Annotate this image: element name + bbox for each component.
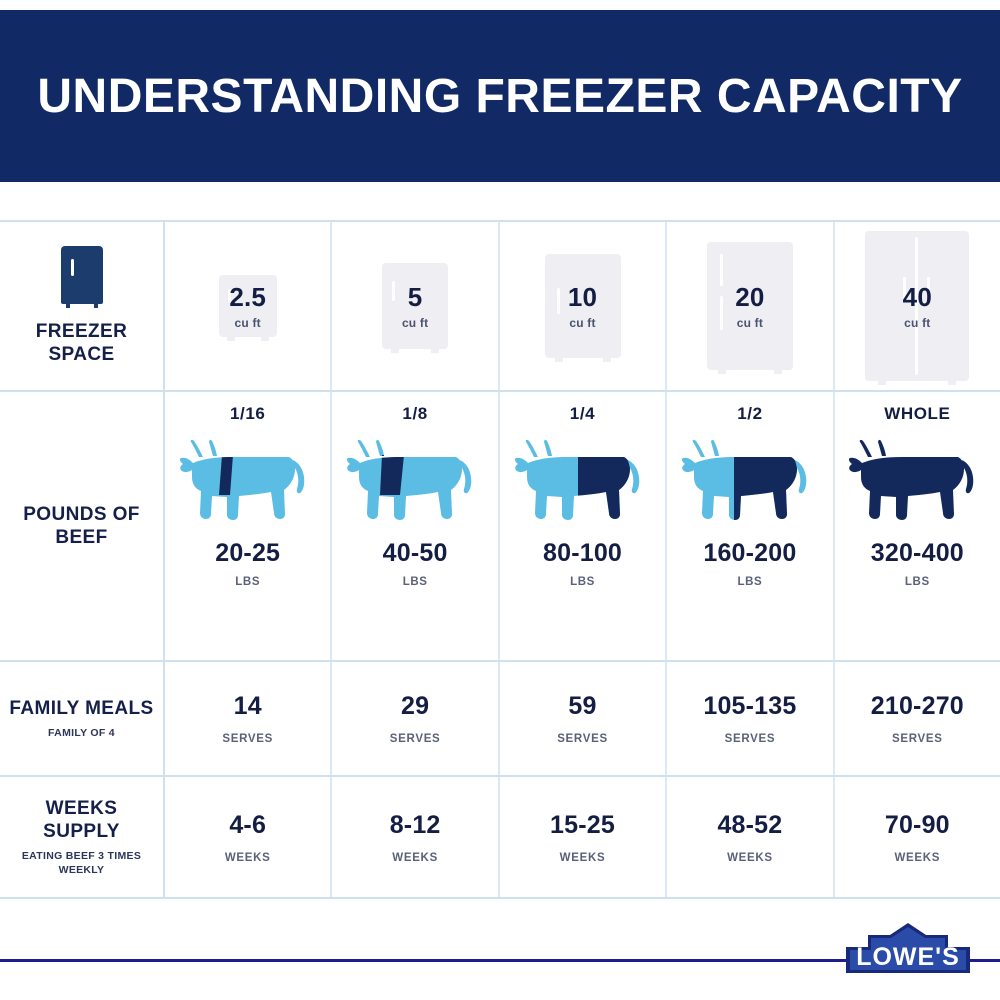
row-header-family-meals: FAMILY MEALS FAMILY OF 4 (0, 662, 165, 775)
cow-icon (842, 430, 992, 525)
page-title: UNDERSTANDING FREEZER CAPACITY (37, 69, 962, 124)
row-label-weeks-supply: WEEKS SUPPLY (6, 797, 157, 843)
cell-weeks-supply-2-5: 4-6 WEEKS (165, 777, 332, 897)
freezer-space-value: 40 (903, 284, 932, 310)
table-row-pounds-of-beef: POUNDS OF BEEF 1/16 (0, 392, 1000, 662)
row-sublabel-family-meals: FAMILY OF 4 (48, 727, 115, 741)
cell-weeks-supply-10: 15-25 WEEKS (500, 777, 667, 897)
cell-beef-1-2: 1/2 160-200 LBS (667, 392, 834, 660)
family-meals-value: 14 (234, 692, 262, 721)
cell-weeks-supply-5: 8-12 WEEKS (332, 777, 499, 897)
beef-fraction: 1/8 (402, 404, 427, 424)
freezer-space-unit: cu ft (735, 317, 764, 329)
cell-freezer-space-10: 10 cu ft (500, 222, 667, 390)
beef-unit: LBS (905, 576, 930, 588)
row-header-freezer-space: FREEZER SPACE (0, 222, 165, 390)
table-row-weeks-supply: WEEKS SUPPLY EATING BEEF 3 TIMES WEEKLY … (0, 777, 1000, 897)
family-meals-unit: SERVES (222, 733, 273, 745)
cell-beef-1-4: 1/4 80-100 LBS (500, 392, 667, 660)
beef-value: 40-50 (383, 539, 448, 568)
freezer-icon (61, 246, 103, 308)
row-label-freezer-space: FREEZER SPACE (6, 320, 157, 366)
weeks-supply-unit: WEEKS (225, 852, 271, 864)
row-header-weeks-supply: WEEKS SUPPLY EATING BEEF 3 TIMES WEEKLY (0, 777, 165, 897)
freezer-space-unit: cu ft (568, 317, 597, 329)
weeks-supply-value: 4-6 (229, 811, 266, 840)
cow-icon (173, 430, 323, 525)
weeks-supply-unit: WEEKS (392, 852, 438, 864)
beef-fraction: WHOLE (884, 404, 950, 424)
family-meals-unit: SERVES (892, 733, 943, 745)
beef-fraction: 1/16 (230, 404, 266, 424)
family-meals-unit: SERVES (725, 733, 776, 745)
beef-value: 160-200 (703, 539, 796, 568)
weeks-supply-unit: WEEKS (560, 852, 606, 864)
family-meals-value: 29 (401, 692, 429, 721)
cell-family-meals-10: 59 SERVES (500, 662, 667, 775)
cell-freezer-space-40: 40 cu ft (835, 222, 1000, 390)
cell-beef-whole: WHOLE 320-400 LBS (835, 392, 1000, 660)
weeks-supply-value: 15-25 (550, 811, 615, 840)
freezer-space-unit: cu ft (229, 317, 266, 329)
table-row-freezer-space: FREEZER SPACE 2.5 cu ft 5 cu ft (0, 222, 1000, 392)
cell-weeks-supply-40: 70-90 WEEKS (835, 777, 1000, 897)
weeks-supply-value: 8-12 (390, 811, 441, 840)
family-meals-value: 210-270 (871, 692, 964, 721)
family-meals-value: 105-135 (703, 692, 796, 721)
row-label-family-meals: FAMILY MEALS (9, 697, 153, 720)
lowes-logo: LOWE'S (838, 921, 978, 979)
freezer-space-value: 5 (402, 284, 428, 310)
weeks-supply-unit: WEEKS (727, 852, 773, 864)
header-banner: UNDERSTANDING FREEZER CAPACITY (0, 10, 1000, 182)
family-meals-value: 59 (568, 692, 596, 721)
beef-fraction: 1/4 (570, 404, 595, 424)
beef-value: 80-100 (543, 539, 622, 568)
cell-family-meals-20: 105-135 SERVES (667, 662, 834, 775)
cell-beef-1-16: 1/16 20-25 LBS (165, 392, 332, 660)
cell-freezer-space-2-5: 2.5 cu ft (165, 222, 332, 390)
beef-unit: LBS (570, 576, 595, 588)
cow-icon (340, 430, 490, 525)
cell-freezer-space-20: 20 cu ft (667, 222, 834, 390)
beef-value: 320-400 (871, 539, 964, 568)
family-meals-unit: SERVES (390, 733, 441, 745)
freezer-space-value: 10 (568, 284, 597, 310)
cell-freezer-space-5: 5 cu ft (332, 222, 499, 390)
weeks-supply-unit: WEEKS (894, 852, 940, 864)
weeks-supply-value: 70-90 (885, 811, 950, 840)
beef-unit: LBS (403, 576, 428, 588)
row-label-pounds-of-beef: POUNDS OF BEEF (6, 503, 157, 549)
freezer-space-value: 2.5 (229, 284, 266, 310)
beef-value: 20-25 (215, 539, 280, 568)
cell-family-meals-40: 210-270 SERVES (835, 662, 1000, 775)
cell-beef-1-8: 1/8 40-50 LBS (332, 392, 499, 660)
freezer-space-unit: cu ft (903, 317, 932, 329)
cow-icon (675, 430, 825, 525)
cow-icon (508, 430, 658, 525)
table-row-family-meals: FAMILY MEALS FAMILY OF 4 14 SERVES 29 SE… (0, 662, 1000, 777)
cell-family-meals-2-5: 14 SERVES (165, 662, 332, 775)
row-header-pounds-of-beef: POUNDS OF BEEF (0, 392, 165, 660)
family-meals-unit: SERVES (557, 733, 608, 745)
beef-unit: LBS (235, 576, 260, 588)
beef-unit: LBS (738, 576, 763, 588)
weeks-supply-value: 48-52 (717, 811, 782, 840)
beef-fraction: 1/2 (737, 404, 762, 424)
cell-weeks-supply-20: 48-52 WEEKS (667, 777, 834, 897)
lowes-logo-text: LOWE'S (856, 943, 960, 971)
row-sublabel-weeks-supply: EATING BEEF 3 TIMES WEEKLY (6, 850, 157, 877)
freezer-space-unit: cu ft (402, 317, 428, 329)
cell-family-meals-5: 29 SERVES (332, 662, 499, 775)
capacity-table: FREEZER SPACE 2.5 cu ft 5 cu ft (0, 220, 1000, 899)
freezer-space-value: 20 (735, 284, 764, 310)
